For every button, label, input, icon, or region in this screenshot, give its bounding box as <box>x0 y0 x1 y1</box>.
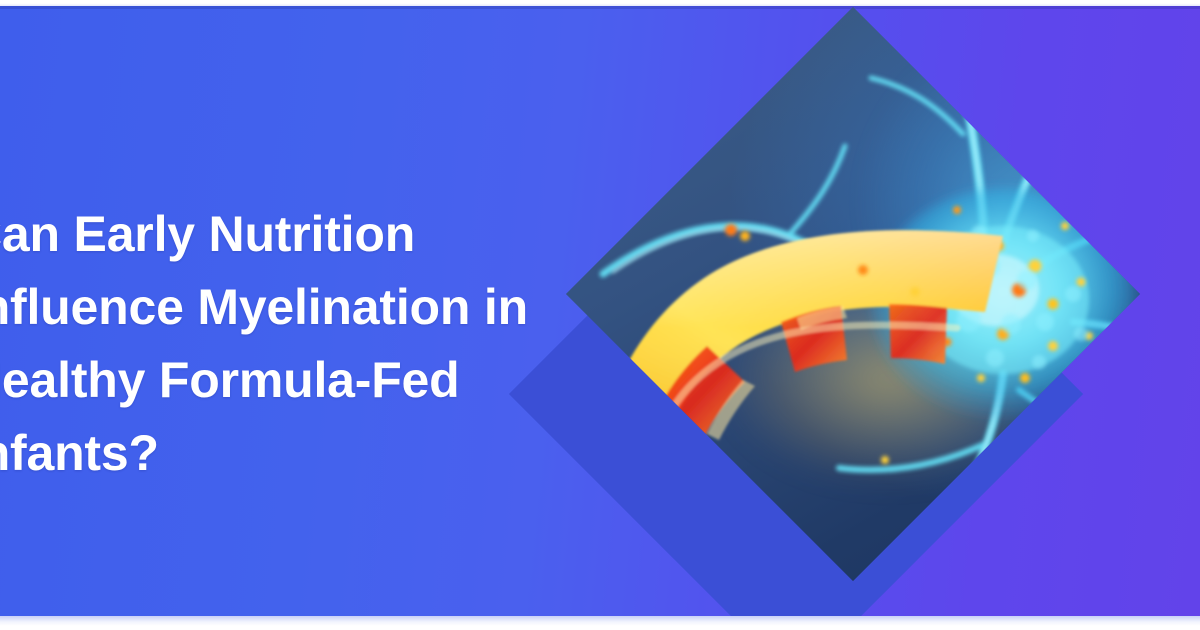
banner-gradient-background: Can Early Nutrition Influence Myelinatio… <box>0 6 1200 617</box>
article-hero-banner: Can Early Nutrition Influence Myelinatio… <box>0 0 1200 630</box>
page-title: Can Early Nutrition Influence Myelinatio… <box>0 198 726 490</box>
banner-bottom-edge <box>0 616 1200 630</box>
banner-top-edge <box>0 0 1200 6</box>
